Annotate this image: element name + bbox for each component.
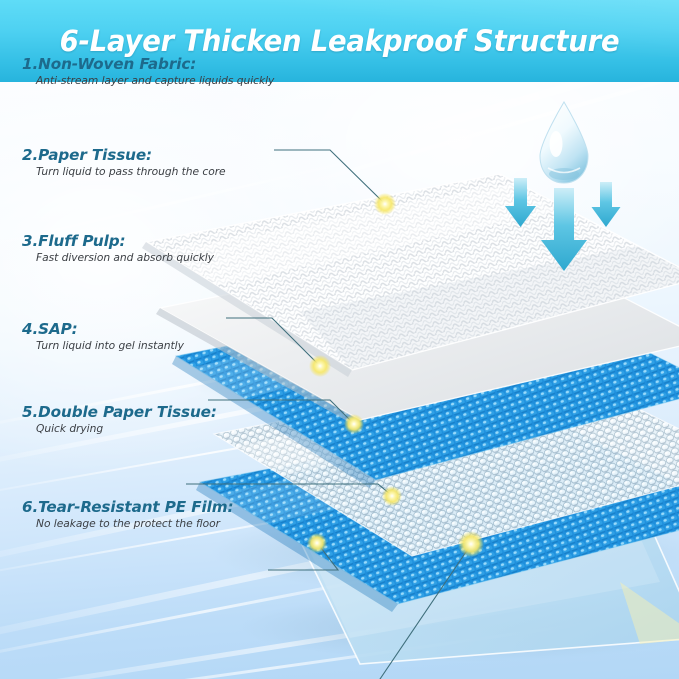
layer-label-1-title: 1.Non-Woven Fabric: — [22, 57, 274, 73]
layer-label-6-subtitle: No leakage to the protect the floor — [36, 518, 233, 530]
layer-label-2-title: 2.Paper Tissue: — [22, 148, 226, 164]
glow-dot-layer-5 — [307, 533, 327, 553]
layer-label-1-subtitle: Anti-stream layer and capture liquids qu… — [36, 75, 274, 87]
glow-dot-layer-3 — [344, 414, 364, 434]
layer-label-6: 6.Tear-Resistant PE Film: No leakage to … — [22, 500, 233, 530]
layer-label-1: 1.Non-Woven Fabric: Anti-stream layer an… — [22, 57, 274, 87]
layer-label-4: 4.SAP: Turn liquid into gel instantly — [22, 322, 184, 352]
layer-label-3-title: 3.Fluff Pulp: — [22, 234, 214, 250]
layer-label-2-subtitle: Turn liquid to pass through the core — [36, 166, 226, 178]
layer-label-6-title: 6.Tear-Resistant PE Film: — [22, 500, 233, 516]
layer-label-5-subtitle: Quick drying — [36, 423, 217, 435]
layer-label-4-subtitle: Turn liquid into gel instantly — [36, 340, 184, 352]
water-droplet — [540, 102, 588, 183]
layer-label-5-title: 5.Double Paper Tissue: — [22, 405, 217, 421]
glow-dot-layer-4 — [382, 486, 402, 506]
leader-line-1 — [274, 150, 383, 202]
glow-dot-layer-6 — [458, 531, 484, 557]
glow-dot-layer-1 — [374, 193, 396, 215]
absorption-arrow-right — [592, 182, 621, 227]
glow-dot-layer-2 — [309, 355, 331, 377]
product-infographic: 6-Layer Thicken Leakproof Structure — [0, 0, 679, 679]
layer-label-3-subtitle: Fast diversion and absorb quickly — [36, 252, 214, 264]
layer-label-2: 2.Paper Tissue: Turn liquid to pass thro… — [22, 148, 226, 178]
layer-label-4-title: 4.SAP: — [22, 322, 184, 338]
layer-label-5: 5.Double Paper Tissue: Quick drying — [22, 405, 217, 435]
layer-label-3: 3.Fluff Pulp: Fast diversion and absorb … — [22, 234, 214, 264]
